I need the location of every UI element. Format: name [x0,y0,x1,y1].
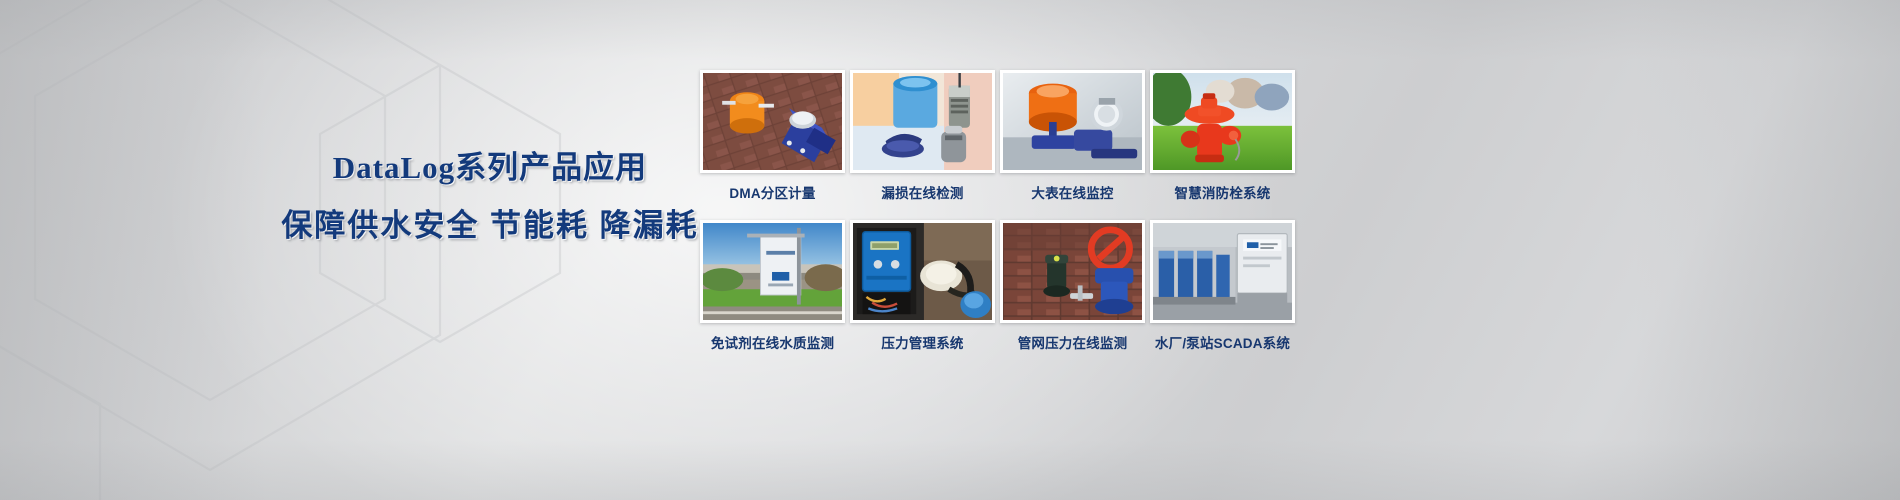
headline-line-1: DataLog系列产品应用 [255,148,725,188]
product-caption: DMA分区计量 [700,182,845,202]
product-card-pressure-management[interactable]: 压力管理系统 [850,220,995,352]
headline-block: DataLog系列产品应用 保障供水安全 节能耗 降漏耗 [255,148,725,246]
product-caption: 水厂/泵站SCADA系统 [1150,332,1295,352]
product-caption: 管网压力在线监测 [1000,332,1145,352]
product-card-water-quality[interactable]: 免试剂在线水质监测 [700,220,845,352]
headline-line-2: 保障供水安全 节能耗 降漏耗 [255,206,725,246]
promo-banner: DataLog系列产品应用 保障供水安全 节能耗 降漏耗 [0,0,1900,500]
product-caption: 大表在线监控 [1000,182,1145,202]
product-grid: DMA分区计量 [700,70,1295,352]
hexagon-watermark [0,0,580,500]
product-thumbnail[interactable] [1150,70,1295,173]
product-card-large-meter[interactable]: 大表在线监控 [1000,70,1145,202]
product-caption: 漏损在线检测 [850,182,995,202]
product-card-scada-system[interactable]: 水厂/泵站SCADA系统 [1150,220,1295,352]
product-thumbnail[interactable] [850,220,995,323]
product-thumbnail[interactable] [1000,220,1145,323]
product-card-leak-detection[interactable]: 漏损在线检测 [850,70,995,202]
product-card-pipeline-pressure[interactable]: 管网压力在线监测 [1000,220,1145,352]
product-caption: 压力管理系统 [850,332,995,352]
product-thumbnail[interactable] [1000,70,1145,173]
product-thumbnail[interactable] [700,220,845,323]
product-caption: 免试剂在线水质监测 [700,332,845,352]
product-thumbnail[interactable] [850,70,995,173]
product-thumbnail[interactable] [700,70,845,173]
product-card-dma-flow-meter[interactable]: DMA分区计量 [700,70,845,202]
product-thumbnail[interactable] [1150,220,1295,323]
product-caption: 智慧消防栓系统 [1150,182,1295,202]
product-card-fire-hydrant[interactable]: 智慧消防栓系统 [1150,70,1295,202]
